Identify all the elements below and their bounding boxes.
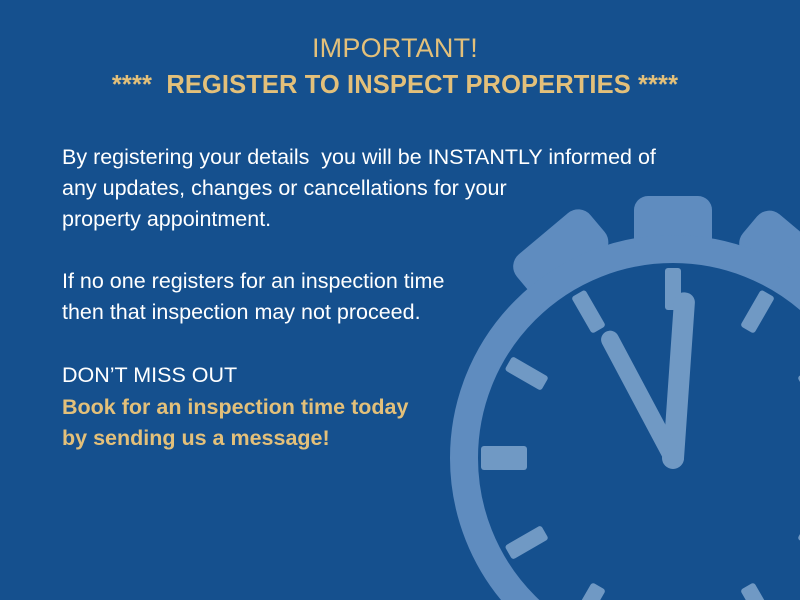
- paragraph-1-line-1: By registering your details you will be …: [62, 142, 722, 173]
- paragraph-2-line-2: then that inspection may not proceed.: [62, 297, 722, 328]
- headline-register-to-inspect: **** REGISTER TO INSPECT PROPERTIES ****: [0, 66, 790, 104]
- text-layer: IMPORTANT! **** REGISTER TO INSPECT PROP…: [0, 0, 800, 600]
- cta-dont-miss-out: DON’T MISS OUT: [62, 359, 722, 392]
- call-to-action-block: DON’T MISS OUT Book for an inspection ti…: [62, 359, 722, 454]
- headline-block: IMPORTANT! **** REGISTER TO INSPECT PROP…: [0, 30, 790, 104]
- paragraph-1-line-2: any updates, changes or cancellations fo…: [62, 173, 722, 204]
- paragraph-2-line-1: If no one registers for an inspection ti…: [62, 266, 722, 297]
- cta-send-message: by sending us a message!: [62, 423, 722, 454]
- cta-book-inspection: Book for an inspection time today: [62, 392, 722, 423]
- slide-canvas: IMPORTANT! **** REGISTER TO INSPECT PROP…: [0, 0, 800, 600]
- body-copy: By registering your details you will be …: [62, 142, 722, 454]
- paragraph-no-registrations: If no one registers for an inspection ti…: [62, 266, 722, 328]
- paragraph-registering-details: By registering your details you will be …: [62, 142, 722, 235]
- headline-important: IMPORTANT!: [0, 30, 790, 66]
- paragraph-1-line-3: property appointment.: [62, 204, 722, 235]
